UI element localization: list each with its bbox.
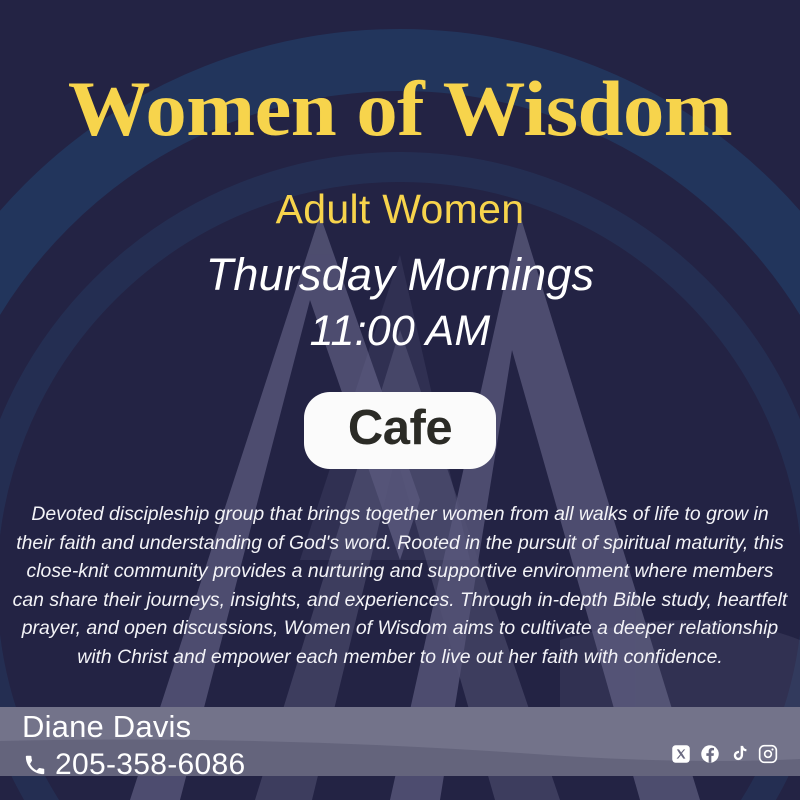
phone-number: 205-358-6086: [55, 748, 245, 782]
x-twitter-icon[interactable]: [671, 744, 691, 764]
contact-phone[interactable]: 205-358-6086: [24, 748, 245, 782]
contact-name: Diane Davis: [22, 709, 191, 745]
page-title: Women of Wisdom: [0, 70, 800, 148]
event-poster: Women of Wisdom Adult Women Thursday Mor…: [0, 0, 800, 800]
tiktok-icon[interactable]: [729, 744, 749, 764]
instagram-icon[interactable]: [758, 744, 778, 764]
phone-icon: [24, 754, 46, 776]
facebook-icon[interactable]: [700, 744, 720, 764]
location-badge-container: Cafe: [0, 392, 800, 469]
social-links: [671, 744, 778, 764]
description-text: Devoted discipleship group that brings t…: [12, 500, 788, 672]
schedule-time: 11:00 AM: [0, 307, 800, 356]
audience-label: Adult Women: [0, 186, 800, 233]
schedule-day: Thursday Mornings: [0, 249, 800, 301]
location-badge: Cafe: [304, 392, 496, 469]
